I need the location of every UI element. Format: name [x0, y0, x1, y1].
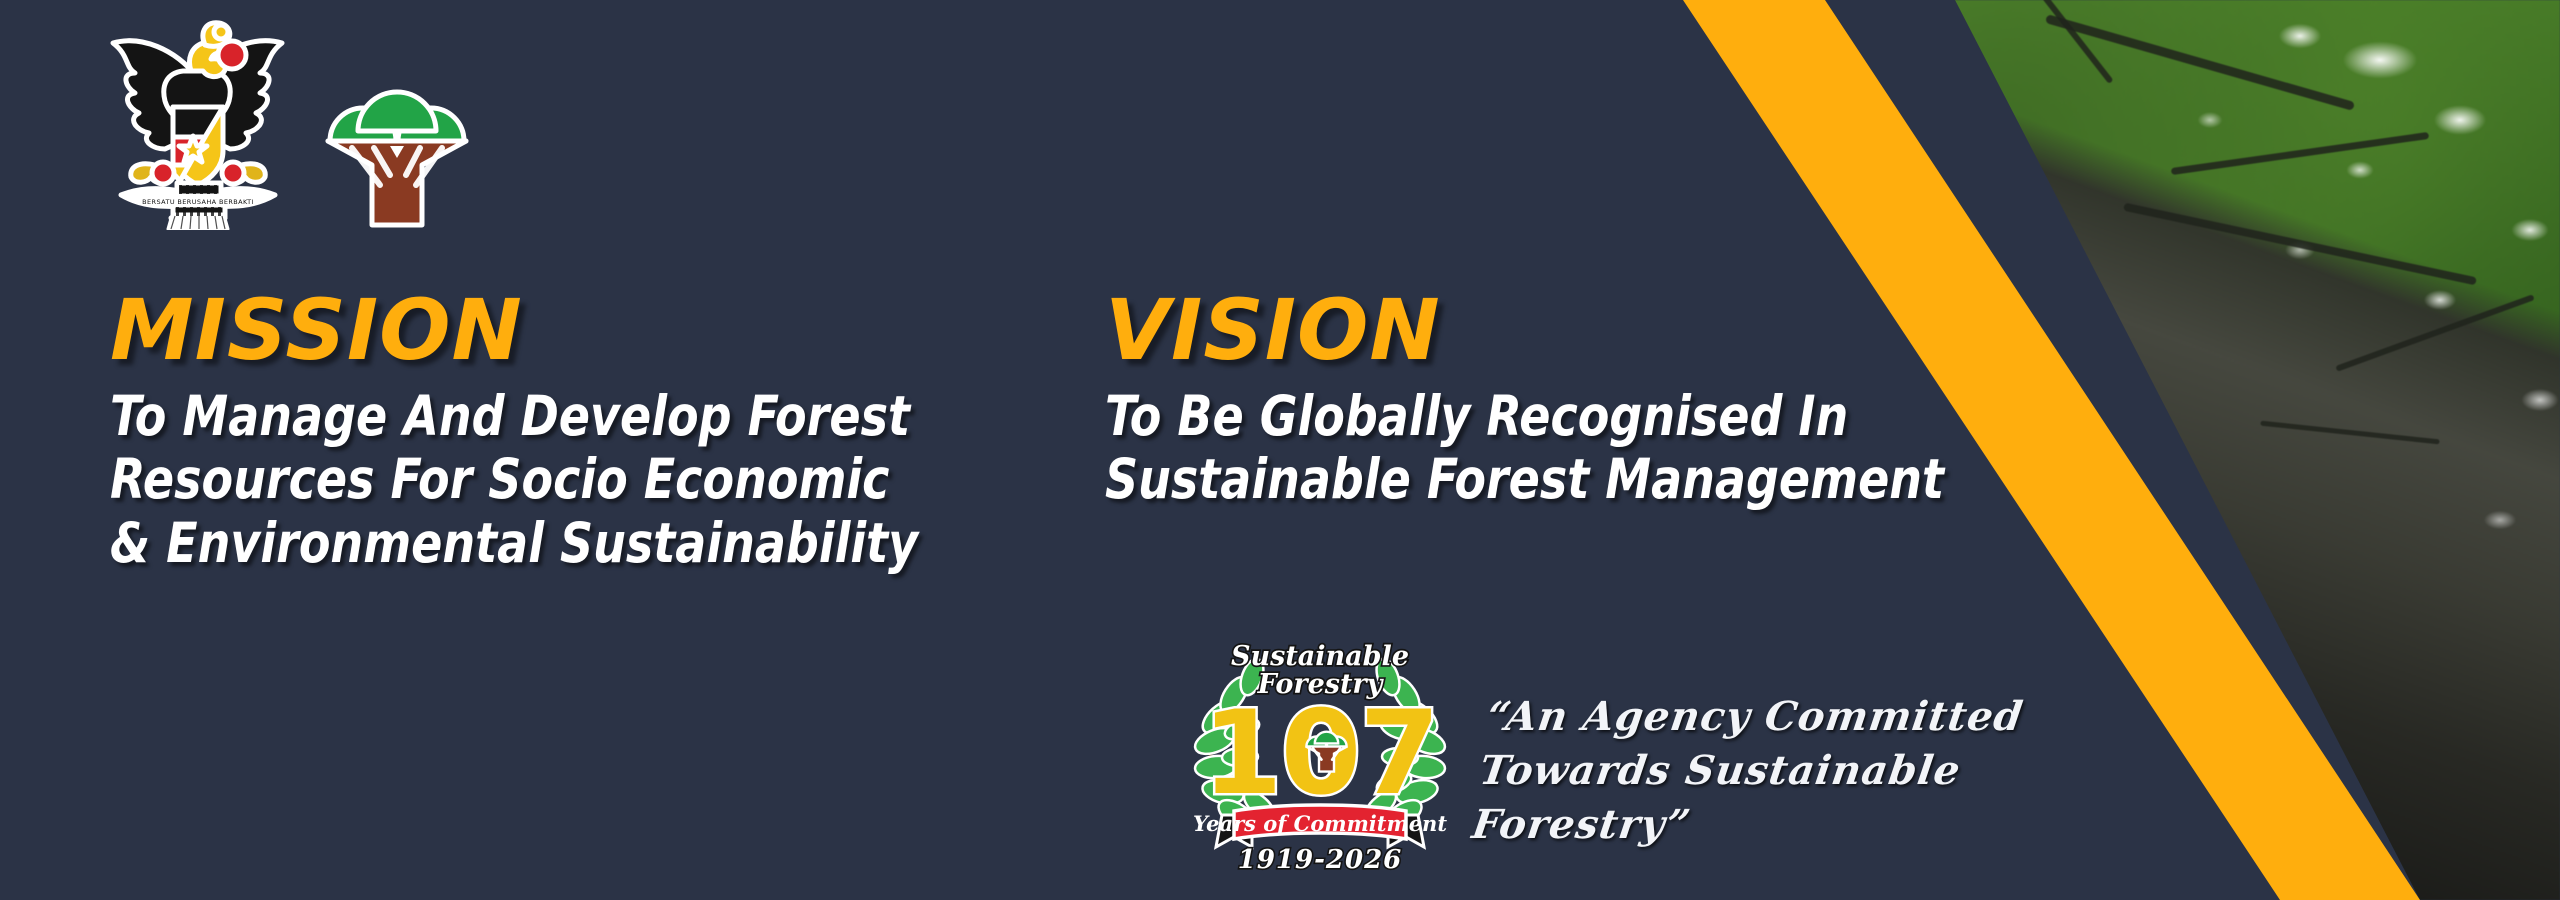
vision-heading: VISION: [1105, 290, 2025, 371]
branch-decor: [2016, 0, 2113, 84]
mission-line-2: Resources For Socio Economic: [110, 448, 928, 512]
vision-block: VISION To Be Globally Recognised In Sust…: [1105, 290, 2025, 512]
mission-vision-banner: BERSATU BERUSAHA BERBAKTI: [0, 0, 2560, 900]
logo-row: BERSATU BERUSAHA BERBAKTI: [95, 15, 472, 230]
branch-decor: [2123, 203, 2477, 286]
tagline-line-2: Towards Sustainable Forestry”: [1469, 744, 2084, 852]
branch-decor: [2335, 294, 2534, 371]
anniversary-107-emblem-icon: Sustainable Forestry 107 Years of Commit…: [1190, 625, 1450, 875]
emblem-years: 1919-2026: [1238, 845, 1403, 875]
agency-tagline: “An Agency Committed Towards Sustainable…: [1469, 690, 2092, 852]
mission-block: MISSION To Manage And Develop Forest Res…: [110, 290, 990, 576]
emblem-top-line-1: Sustainable: [1231, 641, 1409, 672]
forest-department-tree-logo-icon: [322, 53, 472, 228]
emblem-ribbon-text: Years of Commitment: [1193, 811, 1447, 836]
branch-decor: [2171, 132, 2429, 175]
vision-line-2: Sustainable Forest Management: [1105, 448, 1961, 512]
mission-line-3: & Environmental Sustainability: [110, 512, 928, 576]
mission-line-1: To Manage And Develop Forest: [110, 385, 928, 449]
tagline-line-1: “An Agency Committed: [1484, 690, 2092, 744]
vision-line-1: To Be Globally Recognised In: [1105, 385, 1961, 449]
crest-motto: BERSATU BERUSAHA BERBAKTI: [142, 198, 254, 206]
sarawak-state-crest-icon: BERSATU BERUSAHA BERBAKTI: [95, 15, 300, 230]
branch-decor: [2260, 421, 2440, 445]
mission-heading: MISSION: [110, 290, 990, 371]
